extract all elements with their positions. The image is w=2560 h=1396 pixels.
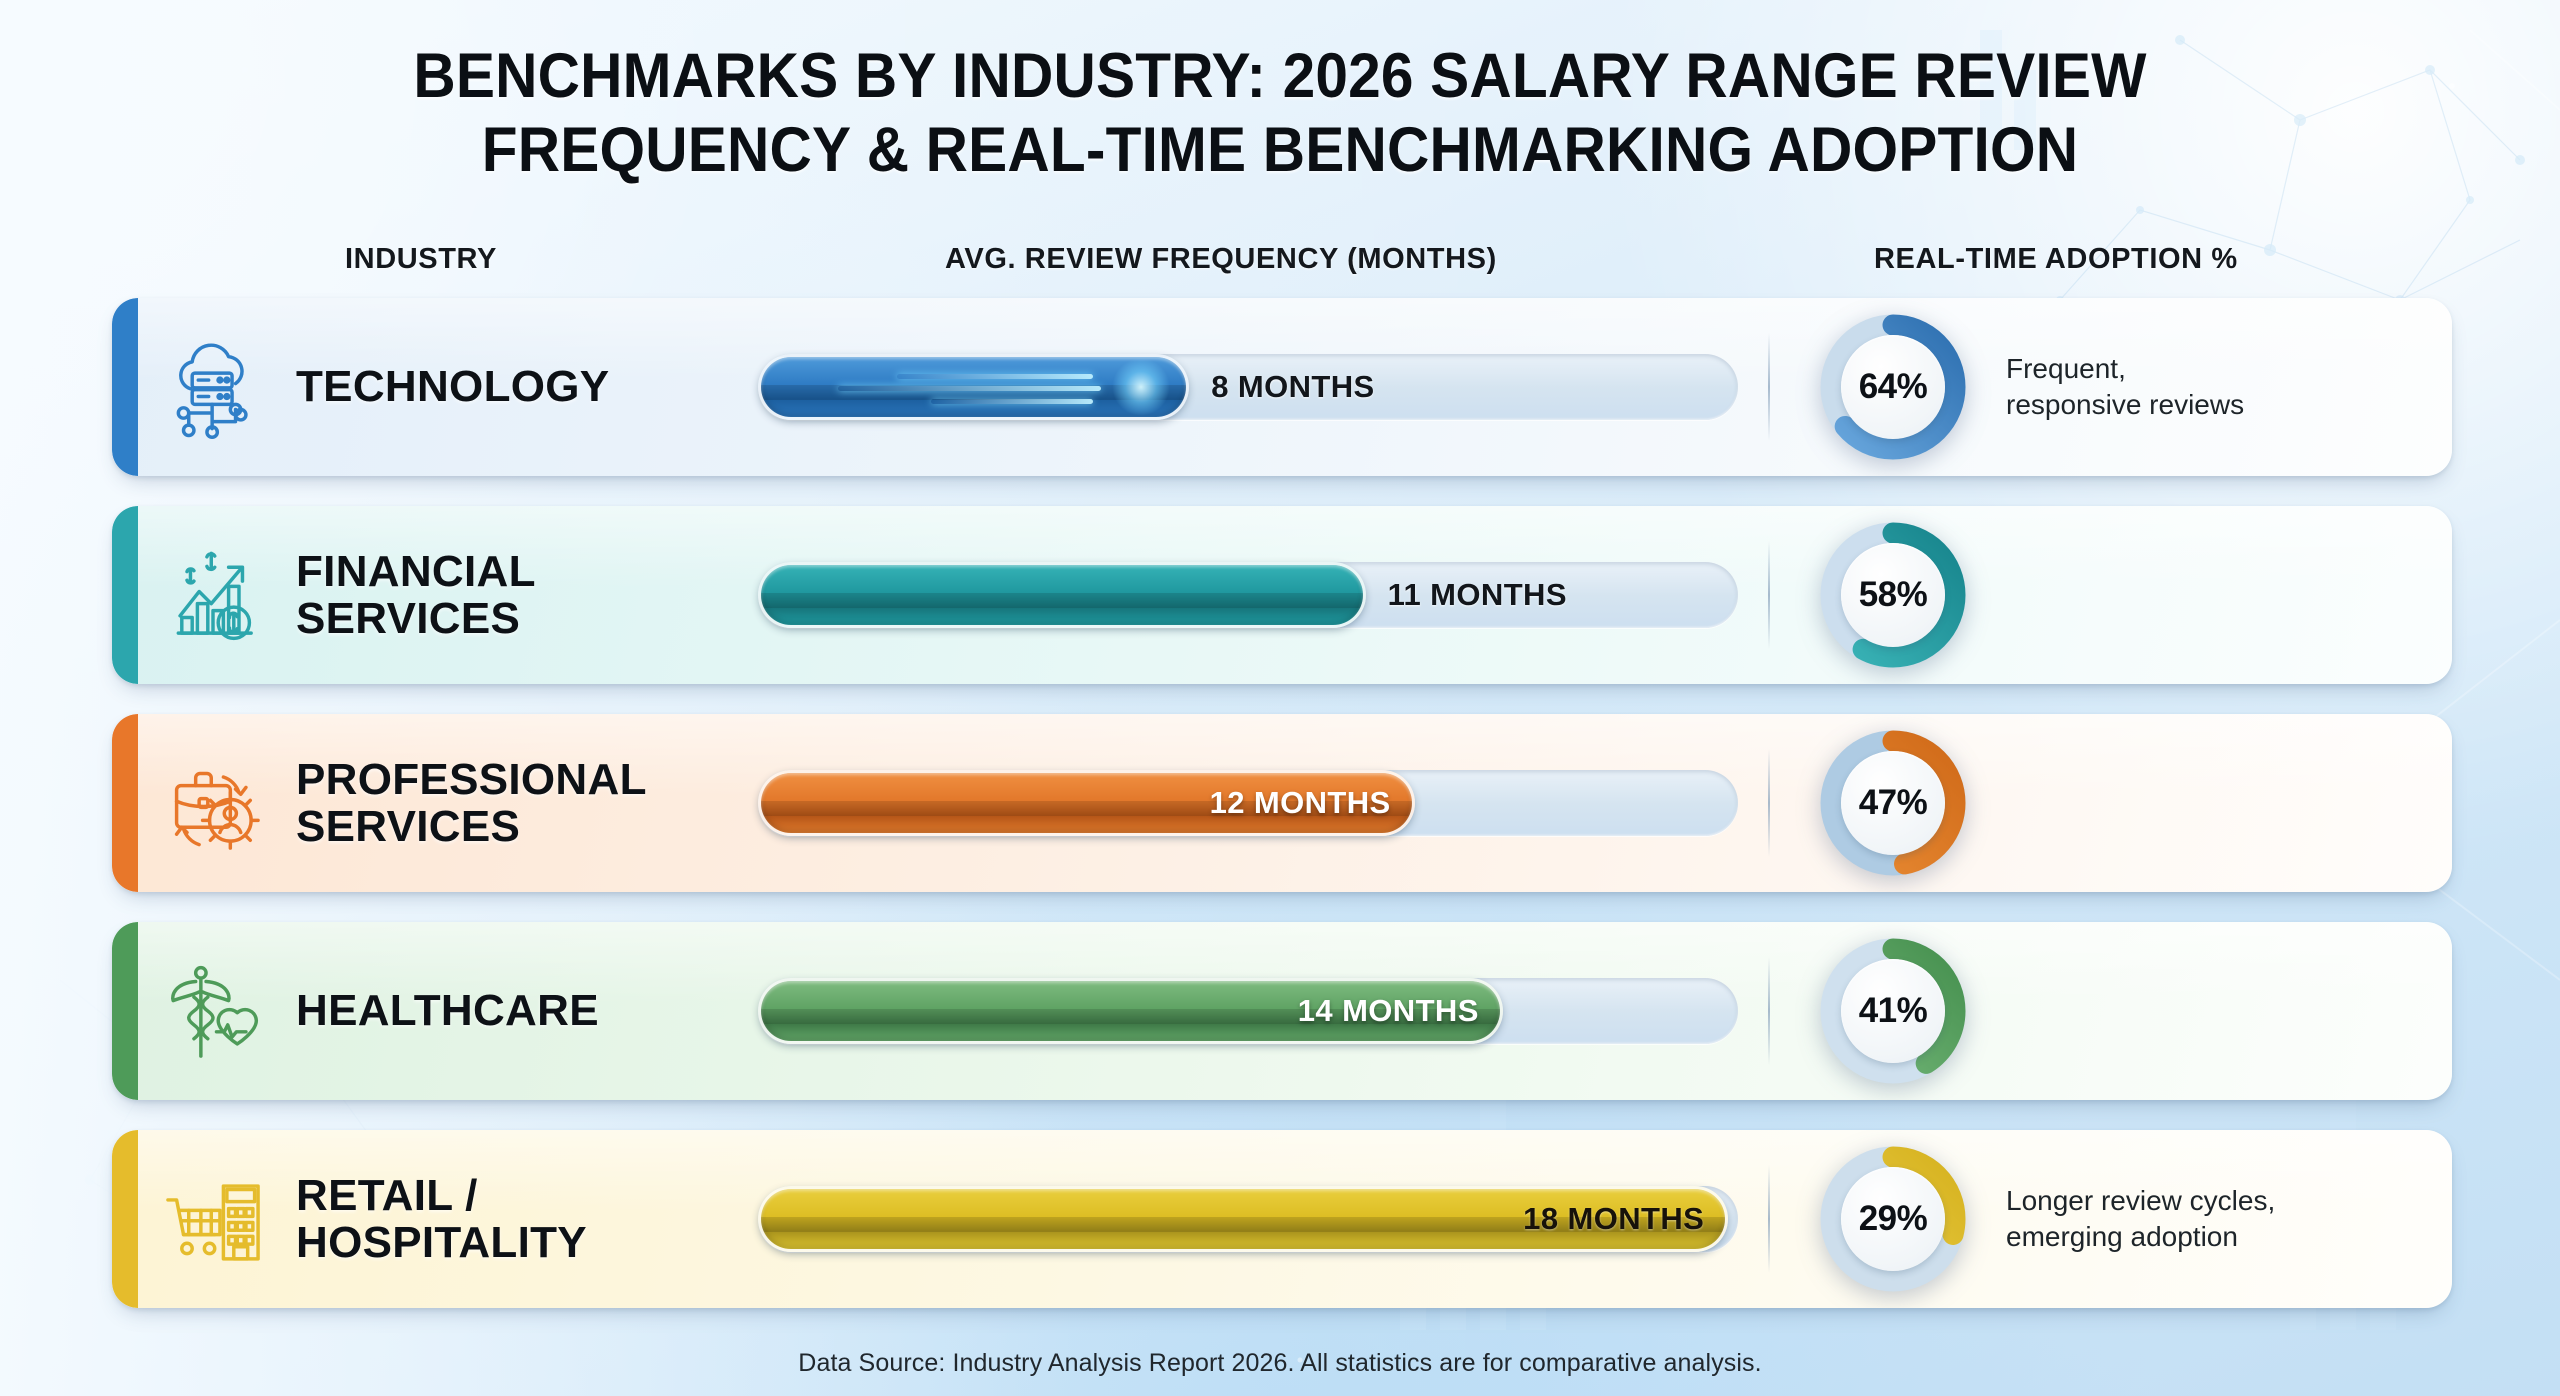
caduceus-heart-pulse-icon xyxy=(138,922,288,1100)
adoption-percent-label: 64% xyxy=(1859,367,1928,407)
insight-note: Longer review cycles, emerging adoption xyxy=(1980,1183,2452,1255)
column-divider xyxy=(1768,957,1770,1065)
donut-hub: 47% xyxy=(1841,751,1945,855)
column-header-adoption: REAL-TIME ADOPTION % xyxy=(1874,243,2238,276)
column-divider xyxy=(1768,1165,1770,1273)
frequency-value-label: 18 MONTHS xyxy=(1523,1201,1704,1237)
donut-hub: 58% xyxy=(1841,543,1945,647)
column-divider xyxy=(1768,749,1770,857)
page-title: BENCHMARKS BY INDUSTRY: 2026 SALARY RANG… xyxy=(90,40,2471,187)
adoption-percent-label: 58% xyxy=(1859,575,1928,615)
frequency-bar-cell: 12 MONTHS xyxy=(758,770,1768,836)
frequency-bar-track[interactable]: 11 MONTHS xyxy=(758,562,1738,628)
frequency-bar-track[interactable]: 14 MONTHS xyxy=(758,978,1738,1044)
industry-row[interactable]: HEALTHCARE14 MONTHS41% xyxy=(112,922,2452,1100)
adoption-donut-chart[interactable]: 64% xyxy=(1817,311,1969,463)
industry-row[interactable]: FINANCIAL SERVICES11 MONTHS58% xyxy=(112,506,2452,684)
frequency-bar-fill xyxy=(758,562,1366,628)
adoption-percent-label: 41% xyxy=(1859,991,1928,1031)
cloud-server-icon xyxy=(138,298,288,476)
industry-name: TECHNOLOGY xyxy=(288,363,758,410)
adoption-donut-chart[interactable]: 41% xyxy=(1817,935,1969,1087)
column-divider xyxy=(1768,333,1770,441)
industry-name: HEALTHCARE xyxy=(288,987,758,1034)
column-header-industry: INDUSTRY xyxy=(345,243,497,276)
industry-row[interactable]: PROFESSIONAL SERVICES12 MONTHS47% xyxy=(112,714,2452,892)
donut-hub: 29% xyxy=(1841,1167,1945,1271)
cart-hotel-icon xyxy=(138,1130,288,1308)
donut-hub: 64% xyxy=(1841,335,1945,439)
frequency-value-label: 14 MONTHS xyxy=(1298,993,1479,1029)
industry-name: RETAIL / HOSPITALITY xyxy=(288,1172,758,1266)
adoption-donut-chart[interactable]: 47% xyxy=(1817,727,1969,879)
frequency-bar-track[interactable]: 12 MONTHS xyxy=(758,770,1738,836)
growth-chart-dollar-icon xyxy=(138,506,288,684)
insight-note: Frequent, responsive reviews xyxy=(1980,351,2452,423)
frequency-bar-fill xyxy=(758,354,1189,420)
adoption-donut-chart[interactable]: 29% xyxy=(1817,1143,1969,1295)
adoption-donut-cell: 41% xyxy=(1806,935,1980,1087)
industry-name: FINANCIAL SERVICES xyxy=(288,548,758,642)
frequency-bar-track[interactable]: 18 MONTHS xyxy=(758,1186,1738,1252)
adoption-donut-cell: 64% xyxy=(1806,311,1980,463)
adoption-donut-cell: 58% xyxy=(1806,519,1980,671)
frequency-bar-cell: 8 MONTHS xyxy=(758,354,1768,420)
adoption-donut-cell: 29% xyxy=(1806,1143,1980,1295)
column-header-frequency: AVG. REVIEW FREQUENCY (MONTHS) xyxy=(945,243,1497,276)
industry-name: PROFESSIONAL SERVICES xyxy=(288,756,758,850)
donut-hub: 41% xyxy=(1841,959,1945,1063)
frequency-bar-cell: 14 MONTHS xyxy=(758,978,1768,1044)
frequency-value-label: 12 MONTHS xyxy=(1210,785,1391,821)
data-source-footnote: Data Source: Industry Analysis Report 20… xyxy=(0,1349,2560,1378)
industry-rows: TECHNOLOGY8 MONTHS64%Frequent, responsiv… xyxy=(112,298,2452,1338)
briefcase-gear-person-icon xyxy=(138,714,288,892)
bar-glow-tip xyxy=(1112,358,1170,416)
adoption-donut-chart[interactable]: 58% xyxy=(1817,519,1969,671)
frequency-value-label: 11 MONTHS xyxy=(1388,577,1567,613)
column-header-row: INDUSTRY AVG. REVIEW FREQUENCY (MONTHS) … xyxy=(0,243,2560,283)
bar-shading xyxy=(761,593,1363,609)
frequency-bar-cell: 18 MONTHS xyxy=(758,1186,1768,1252)
adoption-percent-label: 29% xyxy=(1859,1199,1928,1239)
frequency-bar-cell: 11 MONTHS xyxy=(758,562,1768,628)
column-divider xyxy=(1768,541,1770,649)
industry-row[interactable]: RETAIL / HOSPITALITY18 MONTHS29%Longer r… xyxy=(112,1130,2452,1308)
frequency-bar-track[interactable]: 8 MONTHS xyxy=(758,354,1738,420)
industry-row[interactable]: TECHNOLOGY8 MONTHS64%Frequent, responsiv… xyxy=(112,298,2452,476)
adoption-donut-cell: 47% xyxy=(1806,727,1980,879)
adoption-percent-label: 47% xyxy=(1859,783,1928,823)
frequency-value-label: 8 MONTHS xyxy=(1211,369,1374,405)
